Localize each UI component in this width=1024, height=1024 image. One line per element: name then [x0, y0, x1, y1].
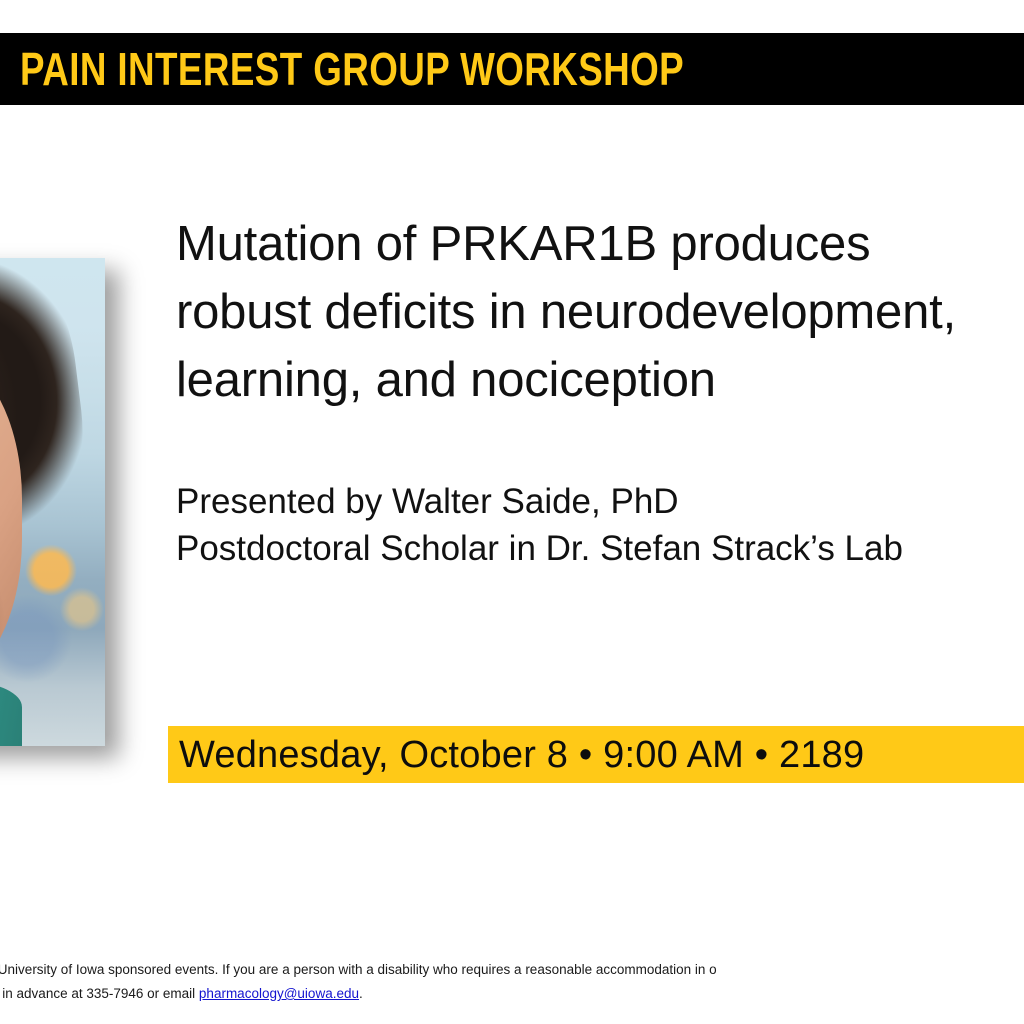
accessibility-statement-line-2: Department in advance at 335-7946 or ema…: [0, 982, 1024, 1006]
talk-title-line-3: learning, and nociception: [176, 346, 1024, 414]
speaker-headshot-photo: [0, 258, 105, 746]
presenter-affiliation-line: Postdoctoral Scholar in Dr. Stefan Strac…: [176, 525, 1024, 572]
talk-title-line-1: Mutation of PRKAR1B produces: [176, 210, 1024, 278]
headshot-image: [0, 258, 105, 746]
accessibility-statement-line-1: o attend all University of Iowa sponsore…: [0, 958, 1024, 982]
event-details-banner: Wednesday, October 8 • 9:00 AM • 2189: [168, 726, 1024, 783]
presenter-name-line: Presented by Walter Saide, PhD: [176, 478, 1024, 525]
header-banner: PAIN INTEREST GROUP WORKSHOP: [0, 33, 1024, 105]
workshop-banner-title: PAIN INTEREST GROUP WORKSHOP: [20, 46, 684, 92]
talk-title-line-2: robust deficits in neurodevelopment,: [176, 278, 1024, 346]
accessibility-statement-period: .: [359, 986, 363, 1001]
event-details-text: Wednesday, October 8 • 9:00 AM • 2189: [179, 736, 864, 774]
accessibility-statement: o attend all University of Iowa sponsore…: [0, 958, 1024, 1006]
workshop-flyer: PAIN INTEREST GROUP WORKSHOP Mutation of…: [0, 0, 1024, 1024]
accessibility-contact-text: Department in advance at 335-7946 or ema…: [0, 986, 199, 1001]
shirt-shape: [0, 682, 22, 746]
pharmacology-email-link[interactable]: pharmacology@uiowa.edu: [199, 986, 359, 1001]
presenter-info: Presented by Walter Saide, PhD Postdocto…: [176, 478, 1024, 572]
talk-title: Mutation of PRKAR1B produces robust defi…: [176, 210, 1024, 414]
